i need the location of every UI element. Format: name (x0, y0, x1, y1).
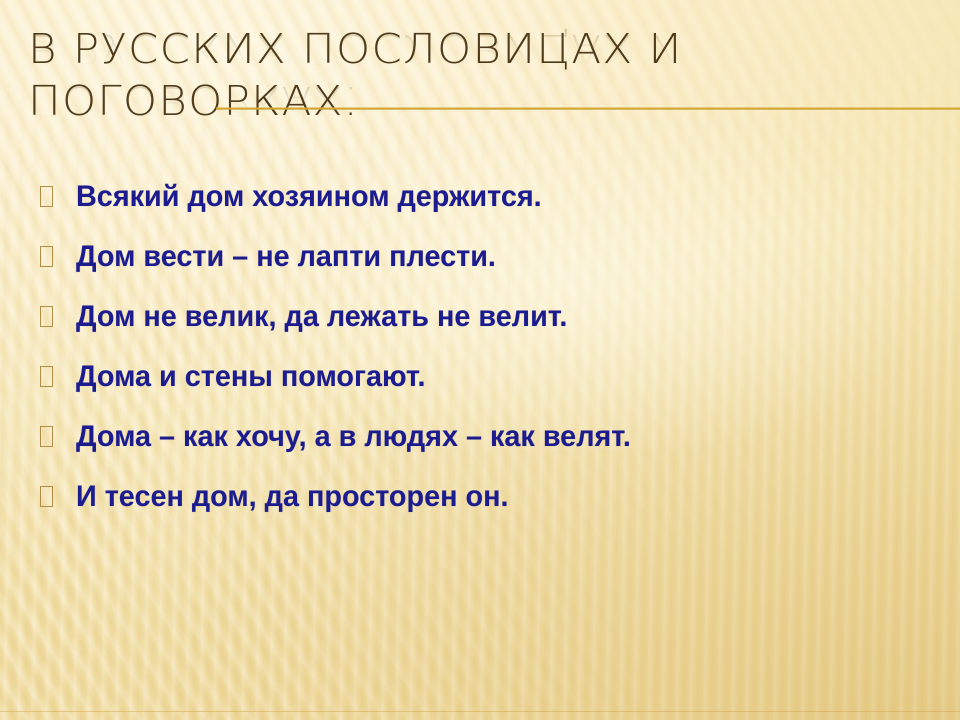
title-divider-rule (216, 107, 960, 110)
proverb-list: Всякий дом хозяином держится. Дом вести … (40, 176, 940, 536)
bullet-tofu-icon (40, 366, 53, 387)
title-line-2-wrapper: поговорках. поговорках. (28, 78, 728, 130)
bullet-tofu-icon (40, 486, 53, 507)
title-line-1-wrapper: В русских пословицах и В русских послови… (28, 26, 728, 78)
proverb-text: И тесен дом, да просторен он. (76, 476, 509, 517)
background-bottom-hairline (0, 711, 960, 712)
list-item: Дома – как хочу, а в людях – как велят. (40, 416, 940, 476)
bullet-tofu-icon (40, 306, 53, 327)
bullet-tofu-icon (40, 186, 53, 207)
list-item: Дом вести – не лапти плести. (40, 236, 940, 296)
bullet-tofu-icon (40, 426, 53, 447)
slide-canvas: В русских пословицах и В русских послови… (0, 0, 960, 720)
proverb-text: Всякий дом хозяином держится. (76, 176, 542, 217)
title-line-2: поговорках. (28, 78, 770, 124)
proverb-text: Дома и стены помогают. (76, 356, 425, 397)
list-item: Дом не велик, да лежать не велит. (40, 296, 940, 356)
list-item: Всякий дом хозяином держится. (40, 176, 940, 236)
list-item: И тесен дом, да просторен он. (40, 476, 940, 536)
title-line-1: В русских пословицах и (28, 26, 770, 72)
proverb-text: Дома – как хочу, а в людях – как велят. (76, 416, 631, 457)
slide-title: В русских пословицах и В русских послови… (28, 26, 728, 130)
list-item: Дома и стены помогают. (40, 356, 940, 416)
bullet-tofu-icon (40, 246, 53, 267)
proverb-text: Дом не велик, да лежать не велит. (76, 296, 567, 337)
proverb-text: Дом вести – не лапти плести. (76, 236, 496, 277)
